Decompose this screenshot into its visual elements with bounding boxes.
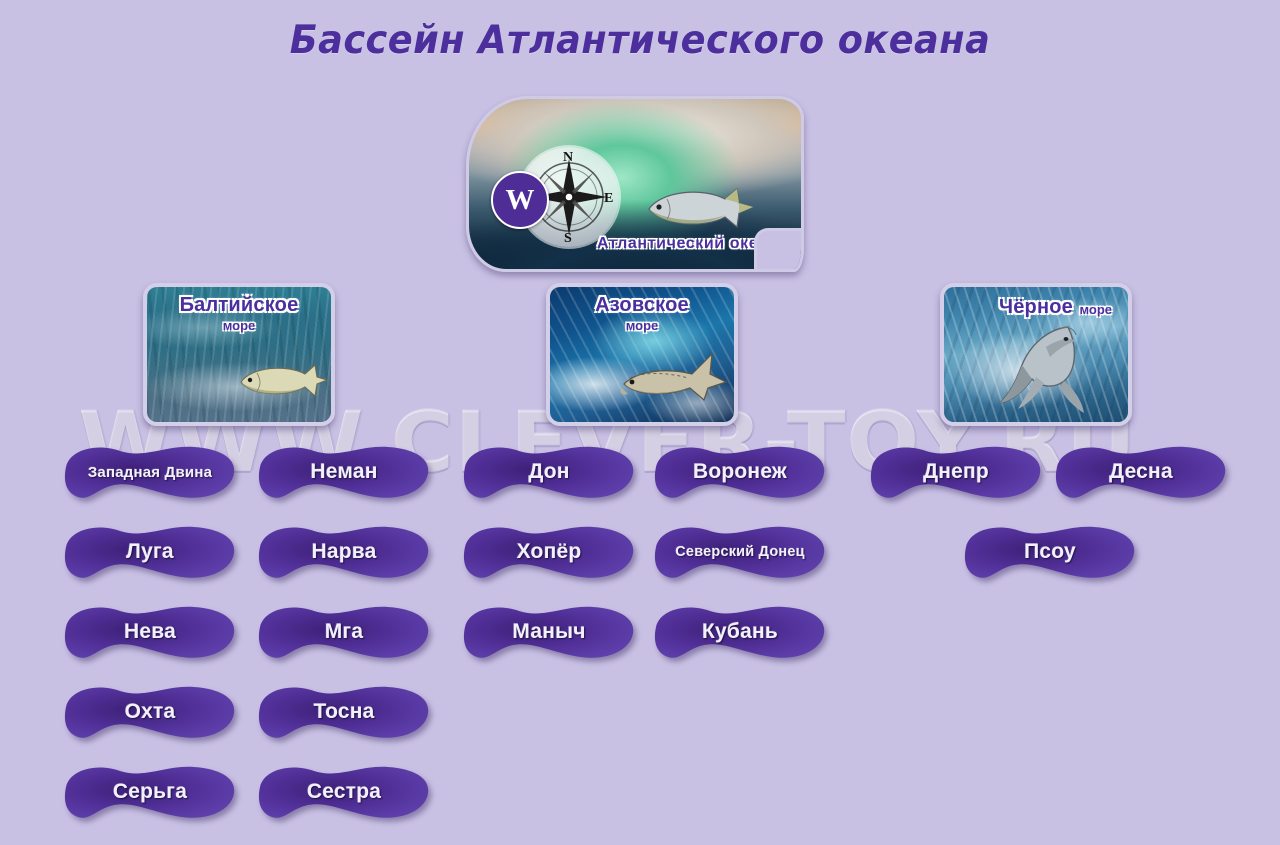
compass-rose-icon: N E S W (491, 147, 595, 251)
sea-title-azov: Азовское (550, 294, 734, 317)
river-label: Нарва (312, 540, 377, 564)
sturgeon-icon (620, 348, 730, 406)
river-blob[interactable]: Воронеж (652, 441, 828, 503)
sea-card-azov[interactable]: Азовское море (546, 283, 738, 426)
river-label: Тосна (313, 700, 374, 724)
river-blob[interactable]: Мга (256, 601, 432, 663)
ocean-card-atlantic[interactable]: Атлантический океан (466, 96, 804, 272)
river-blob[interactable]: Днепр (868, 441, 1044, 503)
river-blob[interactable]: Нева (62, 601, 238, 663)
river-label: Охта (125, 700, 176, 724)
river-label: Неман (310, 460, 377, 484)
river-label: Северский Донец (675, 544, 804, 560)
river-blob[interactable]: Маныч (461, 601, 637, 663)
river-blob[interactable]: Серьга (62, 761, 238, 823)
river-blob[interactable]: Сестра (256, 761, 432, 823)
sea-title-baltic: Балтийское (147, 294, 331, 317)
river-blob[interactable]: Западная Двина (62, 441, 238, 503)
compass-west-badge: W (491, 171, 549, 229)
river-label: Сестра (307, 780, 381, 804)
sea-subtitle-black: море (1079, 302, 1112, 317)
river-label: Хопёр (517, 540, 582, 564)
river-label: Серьга (113, 780, 187, 804)
compass-north-label: N (563, 150, 573, 166)
river-blob[interactable]: Дон (461, 441, 637, 503)
river-label: Кубань (702, 620, 778, 644)
river-label: Луга (126, 540, 174, 564)
river-label: Псоу (1024, 540, 1076, 564)
sea-subtitle-baltic: море (147, 318, 331, 333)
compass-east-label: E (604, 191, 613, 207)
sea-subtitle-azov: море (550, 318, 734, 333)
river-label: Западная Двина (88, 464, 212, 481)
river-blob[interactable]: Десна (1053, 441, 1229, 503)
river-label: Воронеж (693, 460, 787, 484)
river-blob[interactable]: Северский Донец (652, 521, 828, 583)
sea-card-baltic[interactable]: Балтийское море (143, 283, 335, 426)
river-blob[interactable]: Кубань (652, 601, 828, 663)
dolphin-icon (990, 317, 1094, 421)
compass-south-label: S (564, 231, 572, 247)
river-blob[interactable]: Тосна (256, 681, 432, 743)
river-blob[interactable]: Хопёр (461, 521, 637, 583)
river-blob[interactable]: Охта (62, 681, 238, 743)
ocean-label: Атлантический океан (597, 235, 778, 253)
page-title: Бассейн Атлантического океана (38, 18, 1241, 63)
river-label: Мга (325, 620, 364, 644)
river-label: Маныч (512, 620, 585, 644)
river-blob[interactable]: Нарва (256, 521, 432, 583)
fish-icon (235, 362, 331, 400)
ocean-card-notch (754, 228, 803, 271)
sea-card-black[interactable]: Чёрное море (940, 283, 1132, 426)
herring-fish-icon (641, 185, 759, 231)
river-label: Дон (528, 460, 569, 484)
river-blob[interactable]: Луга (62, 521, 238, 583)
river-label: Десна (1109, 460, 1173, 484)
river-label: Нева (124, 620, 176, 644)
poster-canvas: Бассейн Атлантического океана WWW.CLEVER… (0, 0, 1280, 845)
river-label: Днепр (923, 460, 989, 484)
river-blob[interactable]: Неман (256, 441, 432, 503)
river-blob[interactable]: Псоу (962, 521, 1138, 583)
